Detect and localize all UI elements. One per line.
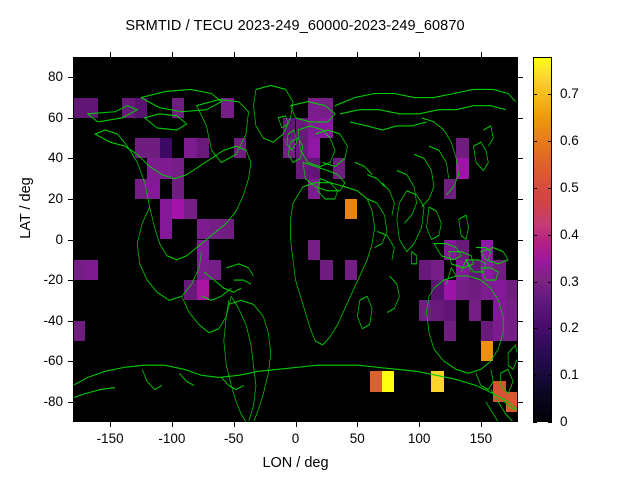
figure-root: SRMTID / TECU 2023-249_60000-2023-249_60… (0, 0, 640, 480)
x-axis-tick (296, 52, 297, 57)
coastline-overlay (73, 57, 518, 422)
x-axis-tick (481, 52, 482, 57)
y-axis-tick (68, 199, 73, 200)
y-axis-tick-label: -60 (11, 353, 63, 368)
y-axis-label: LAT / deg (18, 148, 34, 268)
y-axis-tick (68, 402, 73, 403)
colorbar-tick-label: 0.3 (560, 274, 579, 289)
colorbar-tick (548, 94, 552, 95)
colorbar-tick (533, 422, 537, 423)
chart-title: SRMTID / TECU 2023-249_60000-2023-249_60… (0, 18, 590, 34)
y-axis-tick-label: -20 (11, 272, 63, 287)
x-axis-tick (110, 422, 111, 427)
colorbar-tick (548, 328, 552, 329)
x-axis-tick-label: -150 (80, 431, 140, 446)
y-axis-tick (518, 118, 523, 119)
colorbar-tick (548, 235, 552, 236)
y-axis-tick (518, 199, 523, 200)
colorbar-tick (548, 422, 552, 423)
x-axis-tick (172, 422, 173, 427)
y-axis-tick-label: -80 (11, 394, 63, 409)
x-axis-tick (419, 52, 420, 57)
x-axis-tick-label: 150 (451, 431, 511, 446)
y-axis-tick (68, 240, 73, 241)
x-axis-tick (110, 52, 111, 57)
colorbar-tick (533, 94, 537, 95)
x-axis-tick (357, 52, 358, 57)
x-axis-tick (419, 422, 420, 427)
x-axis-tick-label: 50 (327, 431, 387, 446)
y-axis-tick (68, 321, 73, 322)
colorbar-tick (533, 235, 537, 236)
colorbar-tick-label: 0.5 (560, 180, 579, 195)
y-axis-tick (518, 321, 523, 322)
colorbar-tick (533, 188, 537, 189)
colorbar-tick-label: 0 (560, 414, 568, 429)
x-axis-tick-label: -50 (204, 431, 264, 446)
colorbar-tick-label: 0.2 (560, 320, 579, 335)
y-axis-tick (68, 118, 73, 119)
colorbar-tick (533, 375, 537, 376)
colorbar-tick (533, 282, 537, 283)
x-axis-tick-label: -100 (142, 431, 202, 446)
y-axis-tick (68, 280, 73, 281)
colorbar-tick (548, 188, 552, 189)
y-axis-tick (518, 361, 523, 362)
y-axis-tick-label: 60 (11, 110, 63, 125)
colorbar-tick (548, 141, 552, 142)
y-axis-tick (518, 158, 523, 159)
y-axis-tick-label: 20 (11, 191, 63, 206)
x-axis-tick (234, 422, 235, 427)
x-axis-tick (296, 422, 297, 427)
y-axis-tick (518, 280, 523, 281)
colorbar-tick-label: 0.7 (560, 86, 579, 101)
y-axis-tick-label: 40 (11, 150, 63, 165)
y-axis-tick (518, 402, 523, 403)
map-plot-area[interactable] (73, 57, 518, 422)
colorbar-tick (548, 375, 552, 376)
x-axis-tick-label: 0 (266, 431, 326, 446)
colorbar[interactable] (533, 57, 552, 422)
colorbar-tick (533, 141, 537, 142)
y-axis-tick-label: 0 (11, 232, 63, 247)
colorbar-tick-label: 0.6 (560, 133, 579, 148)
y-axis-tick (68, 158, 73, 159)
colorbar-tick (533, 328, 537, 329)
x-axis-tick (481, 422, 482, 427)
y-axis-tick (68, 361, 73, 362)
y-axis-tick (68, 77, 73, 78)
colorbar-tick-label: 0.4 (560, 227, 579, 242)
y-axis-tick (518, 240, 523, 241)
y-axis-tick-label: -40 (11, 313, 63, 328)
y-axis-tick (518, 77, 523, 78)
x-axis-tick (357, 422, 358, 427)
x-axis-label: LON / deg (73, 455, 518, 471)
x-axis-tick (172, 52, 173, 57)
x-axis-tick (234, 52, 235, 57)
colorbar-tick-label: 0.1 (560, 367, 579, 382)
y-axis-tick-label: 80 (11, 69, 63, 84)
x-axis-tick-label: 100 (389, 431, 449, 446)
colorbar-tick (548, 282, 552, 283)
